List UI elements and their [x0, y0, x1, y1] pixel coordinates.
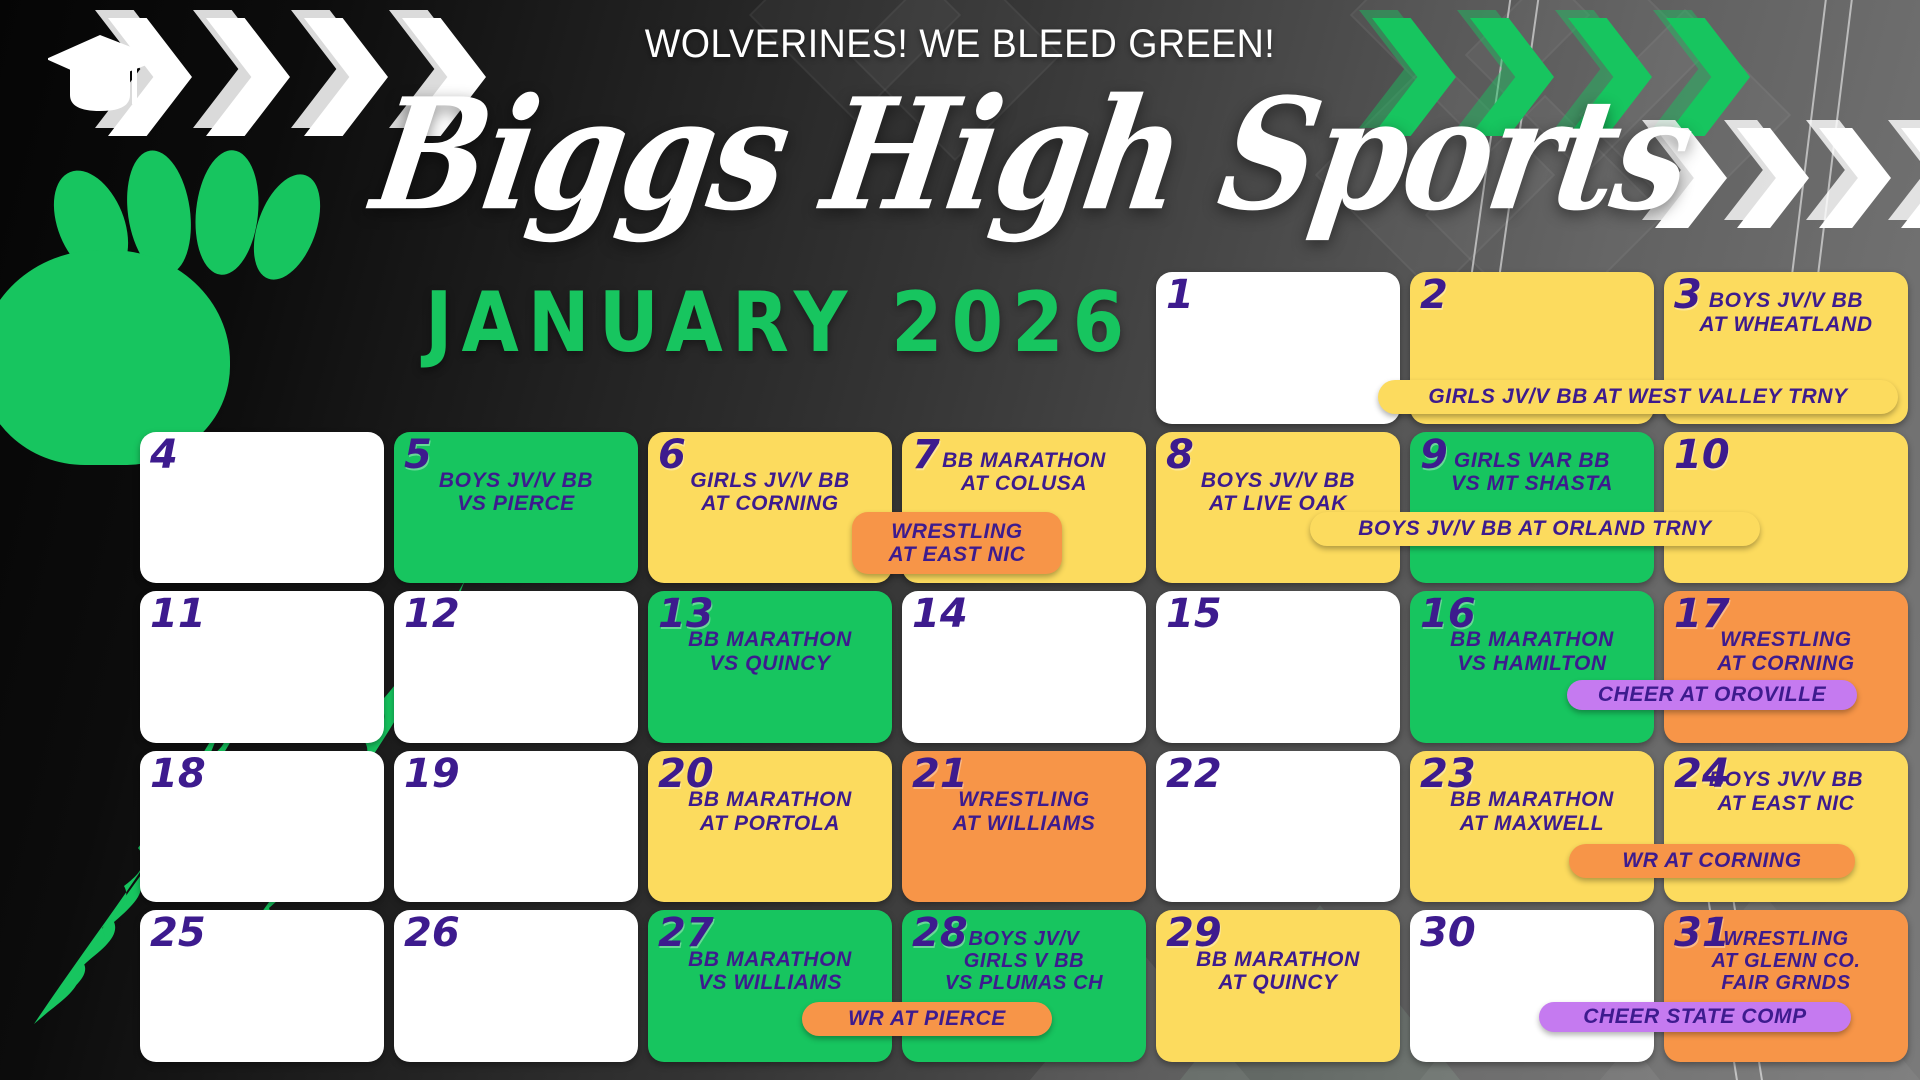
calendar-day-cell[interactable]: 21WRESTLING AT WILLIAMS: [902, 751, 1146, 903]
day-events: BB MARATHON VS QUINCY: [656, 628, 884, 675]
chevron-right-icon: [1737, 128, 1809, 228]
calendar-day-cell[interactable]: 14: [902, 591, 1146, 743]
event-pill-orland-trny[interactable]: BOYS JV/V BB AT ORLAND TRNY: [1310, 512, 1760, 546]
day-events: BOYS JV/V BB AT WHEATLAND: [1672, 289, 1900, 336]
calendar-day-cell[interactable]: 11: [140, 591, 384, 743]
day-number: 10: [1674, 436, 1730, 475]
day-events: BB MARATHON AT MAXWELL: [1418, 788, 1646, 835]
day-events: WRESTLING AT CORNING: [1672, 628, 1900, 675]
calendar-day-cell[interactable]: 30: [1410, 910, 1654, 1062]
event-label: WRESTLING AT CORNING: [1717, 628, 1854, 675]
day-number: 26: [404, 914, 460, 953]
day-events: BB MARATHON VS WILLIAMS: [656, 948, 884, 995]
event-pill-west-valley[interactable]: GIRLS JV/V BB AT WEST VALLEY TRNY: [1378, 380, 1898, 414]
calendar-day-cell[interactable]: 24BOYS JV/V BB AT EAST NIC: [1664, 751, 1908, 903]
day-number: 11: [150, 595, 206, 634]
calendar-day-cell[interactable]: 5BOYS JV/V BB VS PIERCE: [394, 432, 638, 584]
calendar-day-cell[interactable]: 23BB MARATHON AT MAXWELL: [1410, 751, 1654, 903]
day-events: BB MARATHON AT COLUSA: [910, 449, 1138, 496]
event-label: WRESTLING AT WILLIAMS: [953, 788, 1096, 835]
month-title: JANUARY 2026: [425, 275, 1133, 371]
day-number: 30: [1420, 914, 1476, 953]
calendar-day-cell[interactable]: 9GIRLS VAR BB VS MT SHASTA: [1410, 432, 1654, 584]
calendar-day-cell[interactable]: 26: [394, 910, 638, 1062]
day-events: BOYS JV/V GIRLS V BB VS PLUMAS CH: [910, 928, 1138, 995]
calendar-day-cell[interactable]: 22: [1156, 751, 1400, 903]
calendar-day-cell[interactable]: 4: [140, 432, 384, 584]
day-number: 25: [150, 914, 206, 953]
calendar-day-cell[interactable]: 17WRESTLING AT CORNING: [1664, 591, 1908, 743]
event-label: BB MARATHON AT QUINCY: [1196, 948, 1360, 995]
calendar-day-cell[interactable]: 27BB MARATHON VS WILLIAMS: [648, 910, 892, 1062]
calendar-day-cell[interactable]: 13BB MARATHON VS QUINCY: [648, 591, 892, 743]
event-label: BOYS JV/V BB VS PIERCE: [439, 469, 593, 516]
event-label: BOYS JV/V BB AT EAST NIC: [1709, 768, 1863, 815]
calendar-day-cell[interactable]: 28BOYS JV/V GIRLS V BB VS PLUMAS CH: [902, 910, 1146, 1062]
calendar-day-cell[interactable]: 20BB MARATHON AT PORTOLA: [648, 751, 892, 903]
event-label: WRESTLING AT GLENN CO. FAIR GRNDS: [1711, 928, 1860, 995]
day-events: WRESTLING AT GLENN CO. FAIR GRNDS: [1672, 928, 1900, 995]
calendar-day-cell[interactable]: 18: [140, 751, 384, 903]
calendar-day-cell[interactable]: 16BB MARATHON VS HAMILTON: [1410, 591, 1654, 743]
tagline: WOLVERINES! WE BLEED GREEN!: [58, 22, 1863, 67]
chevron-right-icon: [1901, 128, 1920, 228]
event-label: BB MARATHON VS HAMILTON: [1450, 628, 1614, 675]
day-events: GIRLS JV/V BB AT CORNING: [656, 469, 884, 516]
calendar-day-cell[interactable]: 15: [1156, 591, 1400, 743]
day-events: BB MARATHON VS HAMILTON: [1418, 628, 1646, 675]
calendar-day-cell[interactable]: 31WRESTLING AT GLENN CO. FAIR GRNDS: [1664, 910, 1908, 1062]
calendar-day-cell[interactable]: 10: [1664, 432, 1908, 584]
calendar-day-cell[interactable]: 25: [140, 910, 384, 1062]
day-events: BB MARATHON AT QUINCY: [1164, 948, 1392, 995]
day-number: 19: [404, 755, 460, 794]
day-events: BOYS JV/V BB AT EAST NIC: [1672, 768, 1900, 815]
event-label: BOYS JV/V GIRLS V BB VS PLUMAS CH: [945, 928, 1103, 995]
day-number: 1: [1166, 276, 1194, 315]
event-label: BOYS JV/V BB AT LIVE OAK: [1201, 469, 1355, 516]
event-label: BB MARATHON VS WILLIAMS: [688, 948, 852, 995]
calendar-day-cell[interactable]: 1: [1156, 272, 1400, 424]
event-label: GIRLS JV/V BB AT CORNING: [690, 469, 850, 516]
event-label: BOYS JV/V BB AT WHEATLAND: [1699, 289, 1872, 336]
day-number: 12: [404, 595, 460, 634]
day-events: GIRLS VAR BB VS MT SHASTA: [1418, 449, 1646, 496]
event-label: GIRLS VAR BB VS MT SHASTA: [1451, 449, 1613, 496]
day-events: BB MARATHON AT PORTOLA: [656, 788, 884, 835]
event-label: BB MARATHON AT COLUSA: [942, 449, 1106, 496]
calendar-day-cell[interactable]: 8BOYS JV/V BB AT LIVE OAK: [1156, 432, 1400, 584]
day-number: 14: [912, 595, 968, 634]
event-pill-east-nic-wr[interactable]: WRESTLING AT EAST NIC: [852, 512, 1062, 574]
chevron-cluster-right: [1655, 128, 1920, 228]
chevron-right-icon: [1819, 128, 1891, 228]
day-number: 4: [150, 436, 178, 475]
day-number: 18: [150, 755, 206, 794]
day-events: BOYS JV/V BB VS PIERCE: [402, 469, 630, 516]
event-label: BB MARATHON AT PORTOLA: [688, 788, 852, 835]
day-events: BOYS JV/V BB AT LIVE OAK: [1164, 469, 1392, 516]
day-number: 15: [1166, 595, 1222, 634]
wordmark: Biggs High Sports: [363, 64, 1702, 245]
event-pill-wr-corning[interactable]: WR AT CORNING: [1569, 844, 1855, 878]
calendar-grid: 123BOYS JV/V BB AT WHEATLAND45BOYS JV/V …: [140, 272, 1908, 1062]
day-number: 2: [1420, 276, 1448, 315]
event-pill-cheer-state[interactable]: CHEER STATE COMP: [1539, 1002, 1851, 1032]
calendar-day-cell[interactable]: 29BB MARATHON AT QUINCY: [1156, 910, 1400, 1062]
event-pill-wr-pierce[interactable]: WR AT PIERCE: [802, 1002, 1052, 1036]
day-number: 22: [1166, 755, 1222, 794]
event-label: BB MARATHON VS QUINCY: [688, 628, 852, 675]
day-events: WRESTLING AT WILLIAMS: [910, 788, 1138, 835]
event-label: BB MARATHON AT MAXWELL: [1450, 788, 1614, 835]
calendar-cell-empty: [140, 272, 384, 424]
event-pill-cheer-oroville[interactable]: CHEER AT OROVILLE: [1567, 680, 1857, 710]
calendar-day-cell[interactable]: 12: [394, 591, 638, 743]
calendar-day-cell[interactable]: 19: [394, 751, 638, 903]
